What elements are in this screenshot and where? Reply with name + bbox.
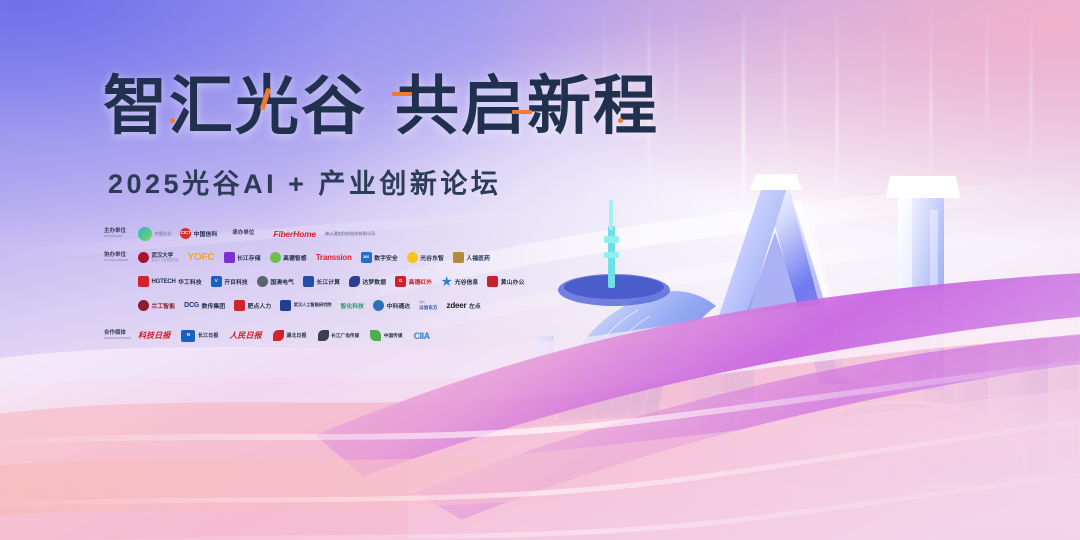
brand-mark-icon [349,276,360,287]
logo-item: 长江广电传媒 [318,330,360,341]
brand-mark-icon [224,252,235,263]
logo-item: 武汉人工智能研究院 [280,300,331,311]
logo-name: 人福医药 [466,253,490,262]
logo-item: G 高德红外 [395,276,432,287]
logo-name: 以治东方 [419,305,437,310]
logo-item: zdeer 左点 [447,301,481,310]
logo-fullname: 烽火通信科技股份有限公司 [325,231,375,237]
fiberhome-wordmark: FiberHome [273,229,316,239]
yofc-wordmark: YOFC [188,252,215,263]
brand-mark-icon: G [395,276,406,287]
logo-name: 长江广电传媒 [331,333,359,339]
floor-plane [408,410,1080,540]
page-title: 智汇光谷共启新程 [103,74,659,138]
logo-name: 中科通达 [387,301,411,310]
logo-name: 左点 [469,301,481,310]
letter-a [696,174,852,384]
logo-name: 科技日报 [138,330,170,341]
brand-mark-icon [270,252,281,263]
logo-name: 人民日报 [229,330,261,341]
brand-mark-icon: V [211,276,222,287]
logo-name: 光谷东智 [420,253,444,262]
logo-name: 湖北日报 [286,332,306,339]
ciia-wordmark: CIIA [414,331,430,341]
sponsor-row: HGTECH 华工科技 V 开目科技 国澳电气 长江计算 达梦数据 [104,270,584,293]
logo-sub: 中国光谷 [155,231,172,237]
ai-city-illustration [520,140,1080,540]
letter-i [886,176,960,390]
headline-left: 智汇光谷 [103,70,367,142]
sponsor-block: 主办单位 ORGANIZER 中国光谷 CICT 中国信科 承办单位 Fiber… [104,222,584,348]
logo-item: 达梦数据 [349,276,386,287]
title-accent-5 [618,118,623,123]
sponsor-row: 兰工智能 DCG 数传集团 肥点人力 武汉人工智能研究院 智化科 [104,294,584,317]
sponsor-row-label: 合作媒体 MEDIA PARTNERS [104,330,138,340]
logo-item: 中国光谷 [138,227,171,241]
logo-name: 光谷信息 [455,277,479,286]
sponsor-logos: 中国光谷 CICT 中国信科 承办单位 FiberHome 烽火通信科技股份有限… [138,227,375,241]
logo-name: 国澳电气 [270,277,294,286]
logo-item: CICT 中国信科 [180,228,217,239]
hgtech-wordmark: HGTECH [152,279,176,285]
logo-item: CIIA [414,331,430,341]
brand-mark-icon [138,300,149,311]
sponsor-row-label: 协办单位 CO-ORGANIZER [104,252,138,262]
logo-item: 长江存储 [224,252,261,263]
logo-item: DCG 数传集团 [184,301,225,310]
brand-mark-icon [407,252,418,263]
sponsor-row-label: 主办单位 ORGANIZER [104,228,138,238]
brand-mark-icon [318,330,329,341]
logo-item: 光谷东智 [407,252,444,263]
logo-name: 长江日报 [198,332,218,339]
logo-item: 360 数字安全 [361,252,398,263]
brand-mark-icon [138,252,149,263]
logo-name: 达梦数据 [363,277,387,286]
logo-name: 肥点人力 [248,301,272,310]
logo-item: V 开目科技 [211,276,248,287]
brand-mark-icon [453,252,464,263]
logo-item: 光谷信息 [441,276,478,287]
brand-mark-icon: 360 [361,252,372,263]
sponsor-row: 合作媒体 MEDIA PARTNERS 科技日报 N 长江日报 人民日报 湖北日… [104,324,584,347]
brand-mark-icon [303,276,314,287]
star-icon [441,276,452,287]
logo-item: 长江计算 [303,276,340,287]
logo-name: 高德智感 [283,253,307,262]
flag-icon [273,330,284,341]
headline-right: 共启新程 [395,70,659,142]
logo-item: 中国传媒 [370,330,402,341]
logo-item: 科技日报 [138,330,170,341]
sponsor-row: 主办单位 ORGANIZER 中国光谷 CICT 中国信科 承办单位 Fiber… [104,222,584,245]
title-accent-3 [392,92,412,96]
brand-mark-icon [487,276,498,287]
logo-item: 智化科技 [340,301,364,310]
logo-item: 国澳电气 [257,276,294,287]
sponsor-logos: HGTECH 华工科技 V 开目科技 国澳电气 长江计算 达梦数据 [138,276,524,287]
title-accent-4 [512,110,532,114]
brand-mark-icon [138,227,152,241]
brand-mark-icon [373,300,384,311]
logo-item: 肥点人力 [234,300,271,311]
logo-item: FiberHome [273,229,316,239]
logo-name: 中国传媒 [384,333,403,339]
logo-name: 华工科技 [178,277,202,286]
logo-item: 高德智感 [270,252,307,263]
sponsor-logos: 科技日报 N 长江日报 人民日报 湖北日报 长江广电传媒 [138,330,430,342]
logo-name: 长江计算 [316,277,340,286]
brand-mark-icon [138,276,149,287]
brand-mark-icon: N [181,330,195,342]
page-subtitle: 2025光谷AI + 产业创新论坛 [108,162,501,201]
logo-name: 兰工智能 [152,301,176,310]
logo-item: 人民日报 [229,330,261,341]
logo-item: 中科通达 [373,300,410,311]
logo-name: 中国信科 [194,229,218,238]
logo-sub: 武汉人工智能研究院 [152,259,179,262]
logo-item: 城市 以治东方 [419,301,437,310]
logo-item: 人福医药 [453,252,490,263]
logo-name: 数字安全 [374,253,398,262]
logo-name: 武汉人工智能研究院 [294,303,332,308]
logo-item: 湖北日报 [273,330,307,341]
sponsor-inline-label: 承办单位 [232,230,264,236]
logo-name: 开目科技 [224,277,248,286]
dcg-wordmark: DCG [184,302,199,309]
logo-name: 高德红外 [409,277,433,286]
title-accent-1 [170,118,175,123]
logo-item: HGTECH 华工科技 [138,276,202,287]
poster-canvas: 智汇光谷共启新程 2025光谷AI + 产业创新论坛 主办单位 ORGANIZE… [0,0,1080,540]
logo-item: 武汉大学 武汉人工智能研究院 [138,252,179,263]
logo-name: 智化科技 [340,301,364,310]
logo-item: Transsion [316,253,352,262]
logo-name: 数传集团 [202,301,226,310]
sponsor-logos: 武汉大学 武汉人工智能研究院 YOFC 长江存储 高德智感 Transsion [138,252,490,263]
leaf-icon [370,330,381,341]
cict-mark-icon: CICT [180,228,191,239]
brand-mark-icon [257,276,268,287]
logo-item: 兰工智能 [138,300,175,311]
logo-item: N 长江日报 [181,330,218,342]
sponsor-logos: 兰工智能 DCG 数传集团 肥点人力 武汉人工智能研究院 智化科 [138,300,481,311]
sponsor-row: 协办单位 CO-ORGANIZER 武汉大学 武汉人工智能研究院 YOFC 长江… [104,246,584,269]
zdeer-wordmark: zdeer [447,301,467,310]
brand-mark-icon [234,300,245,311]
logo-item: YOFC [188,252,215,263]
brand-mark-icon [280,300,291,311]
transsion-wordmark: Transsion [316,253,352,262]
logo-item: 黄山办公 [487,276,524,287]
logo-name: 黄山办公 [501,277,525,286]
logo-name: 长江存储 [237,253,261,262]
logo-item: 烽火通信科技股份有限公司 [325,231,375,237]
